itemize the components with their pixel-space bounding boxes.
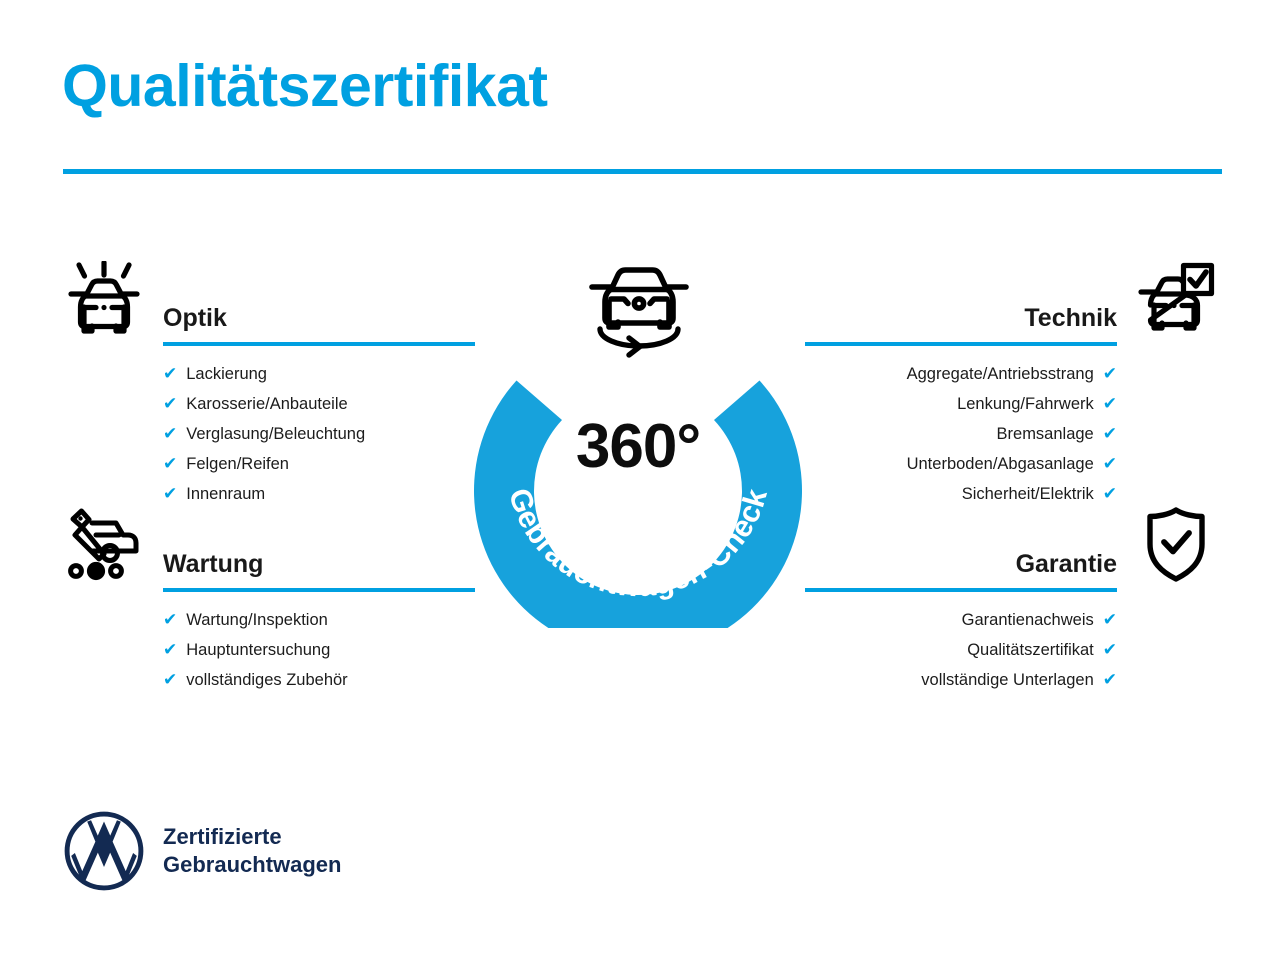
check-icon: ✔ — [1103, 671, 1117, 688]
car-shine-icon — [58, 258, 150, 338]
checklist-garantie: Garantienachweis✔ Qualitätszertifikat✔ v… — [798, 605, 1222, 695]
list-item-label: Unterboden/Abgasanlage — [907, 449, 1094, 479]
list-item: ✔Lackierung — [163, 359, 478, 389]
section-wartung: Wartung ✔Wartung/Inspektion ✔Hauptunters… — [58, 504, 478, 695]
section-title: Wartung — [163, 504, 475, 579]
list-item-label: Lenkung/Fahrwerk — [957, 389, 1094, 419]
checklist-wartung: ✔Wartung/Inspektion ✔Hauptuntersuchung ✔… — [58, 605, 478, 695]
section-technik: Technik Aggregate/Antriebsstrang✔ Lenkun… — [798, 258, 1222, 509]
check-icon: ✔ — [1103, 425, 1117, 442]
check-icon: ✔ — [163, 671, 177, 688]
section-underline — [805, 342, 1117, 346]
brand-lockup: ZertifizierteGebrauchtwagen — [63, 810, 341, 892]
brand-line-1: Zertifizierte — [163, 824, 282, 849]
check-icon: ✔ — [163, 641, 177, 658]
list-item: ✔vollständiges Zubehör — [163, 665, 478, 695]
check-icon: ✔ — [1103, 455, 1117, 472]
list-item-label: vollständiges Zubehör — [186, 665, 347, 695]
list-item-label: Aggregate/Antriebsstrang — [907, 359, 1094, 389]
list-item: ✔Karosserie/Anbauteile — [163, 389, 478, 419]
list-item: ✔Hauptuntersuchung — [163, 635, 478, 665]
title-divider — [63, 169, 1222, 174]
section-header: Technik — [798, 258, 1222, 338]
brand-line-2: Gebrauchtwagen — [163, 852, 341, 877]
list-item: Lenkung/Fahrwerk✔ — [798, 389, 1117, 419]
list-item-label: Bremsanlage — [997, 419, 1094, 449]
list-item: ✔Wartung/Inspektion — [163, 605, 478, 635]
shield-check-icon — [1130, 504, 1222, 584]
brand-text: ZertifizierteGebrauchtwagen — [163, 823, 341, 878]
section-underline — [163, 342, 475, 346]
check-icon: ✔ — [1103, 641, 1117, 658]
check-icon: ✔ — [1103, 611, 1117, 628]
vw-logo-icon — [63, 810, 145, 892]
list-item-label: Felgen/Reifen — [186, 449, 289, 479]
list-item-label: Qualitätszertifikat — [967, 635, 1094, 665]
check-icon: ✔ — [1103, 395, 1117, 412]
list-item-label: Garantienachweis — [962, 605, 1094, 635]
list-item: Bremsanlage✔ — [798, 419, 1117, 449]
list-item: vollständige Unterlagen✔ — [798, 665, 1117, 695]
section-garantie: Garantie Garantienachweis✔ Qualitätszert… — [798, 504, 1222, 695]
section-title: Garantie — [805, 504, 1117, 579]
page-title: Qualitätszertifikat — [62, 56, 548, 118]
car-rotate-360-icon — [574, 256, 704, 362]
section-header: Garantie — [798, 504, 1222, 584]
section-title-wrap: Wartung — [163, 504, 475, 592]
list-item: Unterboden/Abgasanlage✔ — [798, 449, 1117, 479]
list-item-label: Lackierung — [186, 359, 267, 389]
certificate-page: Qualitätszertifikat — [0, 0, 1280, 960]
section-underline — [163, 588, 475, 592]
check-icon: ✔ — [1103, 485, 1117, 502]
list-item: ✔Felgen/Reifen — [163, 449, 478, 479]
section-title: Technik — [805, 258, 1117, 333]
checklist-technik: Aggregate/Antriebsstrang✔ Lenkung/Fahrwe… — [798, 359, 1222, 509]
list-item: Qualitätszertifikat✔ — [798, 635, 1117, 665]
list-item-label: Verglasung/Beleuchtung — [186, 419, 365, 449]
list-item: Garantienachweis✔ — [798, 605, 1117, 635]
section-header: Optik — [58, 258, 478, 338]
section-title: Optik — [163, 258, 475, 333]
badge-degrees: 360° — [466, 416, 810, 478]
list-item-label: vollständige Unterlagen — [921, 665, 1093, 695]
list-item: Aggregate/Antriebsstrang✔ — [798, 359, 1117, 389]
car-service-pen-icon — [58, 504, 150, 584]
list-item-label: Hauptuntersuchung — [186, 635, 330, 665]
list-item-label: Wartung/Inspektion — [186, 605, 328, 635]
check-icon: ✔ — [163, 455, 177, 472]
check-icon: ✔ — [163, 395, 177, 412]
check-icon: ✔ — [163, 611, 177, 628]
section-optik: Optik ✔Lackierung ✔Karosserie/Anbauteile… — [58, 258, 478, 509]
badge-360-check: Gebrauchtwagen-Check 360° — [466, 256, 810, 628]
list-item: ✔Verglasung/Beleuchtung — [163, 419, 478, 449]
section-underline — [805, 588, 1117, 592]
car-checkbox-icon — [1130, 258, 1222, 338]
check-icon: ✔ — [163, 365, 177, 382]
checklist-optik: ✔Lackierung ✔Karosserie/Anbauteile ✔Verg… — [58, 359, 478, 509]
section-title-wrap: Garantie — [805, 504, 1117, 592]
list-item-label: Karosserie/Anbauteile — [186, 389, 347, 419]
check-icon: ✔ — [163, 425, 177, 442]
section-header: Wartung — [58, 504, 478, 584]
section-title-wrap: Optik — [163, 258, 475, 346]
check-icon: ✔ — [1103, 365, 1117, 382]
check-icon: ✔ — [163, 485, 177, 502]
section-title-wrap: Technik — [805, 258, 1117, 346]
